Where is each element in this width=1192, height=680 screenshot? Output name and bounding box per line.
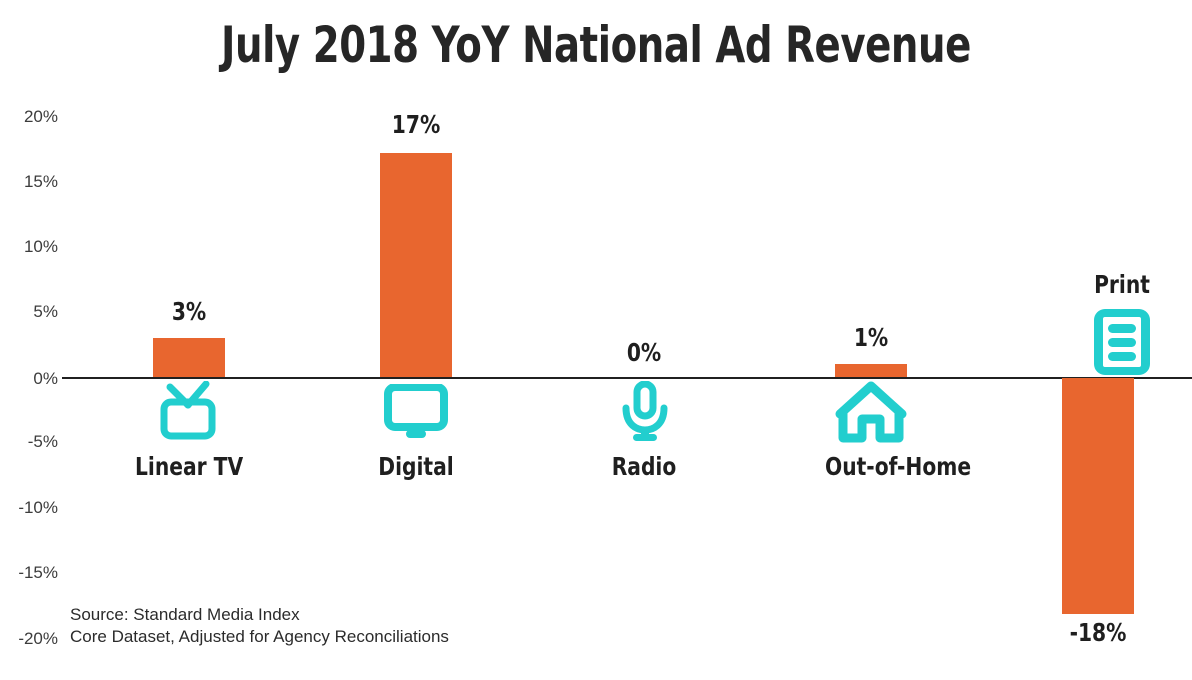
source-note: Source: Standard Media Index Core Datase…: [70, 604, 449, 648]
value-label-digital: 17%: [384, 110, 449, 139]
tv-icon: [157, 381, 221, 446]
category-label-linear-tv: Linear TV: [135, 452, 243, 481]
zero-axis-line: [62, 377, 1192, 379]
category-label-print: Print: [1068, 270, 1176, 299]
value-label-print: -18%: [1066, 618, 1131, 647]
source-note-line-2: Core Dataset, Adjusted for Agency Reconc…: [70, 626, 449, 648]
y-axis: 20% 15% 10% 5% 0% -5% -10% -15% -20%: [0, 0, 58, 680]
y-tick-neg15: -15%: [2, 564, 58, 581]
y-tick-0: 0%: [2, 370, 58, 387]
microphone-icon: [620, 381, 670, 448]
bar-digital[interactable]: [380, 153, 452, 377]
bar-out-of-home[interactable]: [835, 364, 907, 377]
value-label-linear-tv: 3%: [157, 297, 222, 326]
source-note-line-1: Source: Standard Media Index: [70, 604, 449, 626]
chart-container: July 2018 YoY National Ad Revenue 20% 15…: [0, 0, 1192, 680]
y-tick-15: 15%: [2, 173, 58, 190]
bar-print[interactable]: [1062, 378, 1134, 614]
y-tick-neg5: -5%: [2, 433, 58, 450]
category-label-radio: Radio: [590, 452, 698, 481]
plot-area: 3% Linear TV 17% Digital 0%: [62, 0, 1192, 680]
y-tick-20: 20%: [2, 108, 58, 125]
category-label-digital: Digital: [362, 452, 470, 481]
document-icon: [1091, 306, 1153, 383]
category-label-out-of-home: Out-of-Home: [825, 452, 969, 481]
y-tick-neg20: -20%: [2, 630, 58, 647]
y-tick-10: 10%: [2, 238, 58, 255]
value-label-radio: 0%: [612, 338, 677, 367]
value-label-out-of-home: 1%: [839, 323, 904, 352]
house-icon: [835, 381, 907, 448]
bar-linear-tv[interactable]: [153, 338, 225, 377]
monitor-icon: [383, 384, 449, 445]
y-tick-neg10: -10%: [2, 499, 58, 516]
y-tick-5: 5%: [2, 303, 58, 320]
